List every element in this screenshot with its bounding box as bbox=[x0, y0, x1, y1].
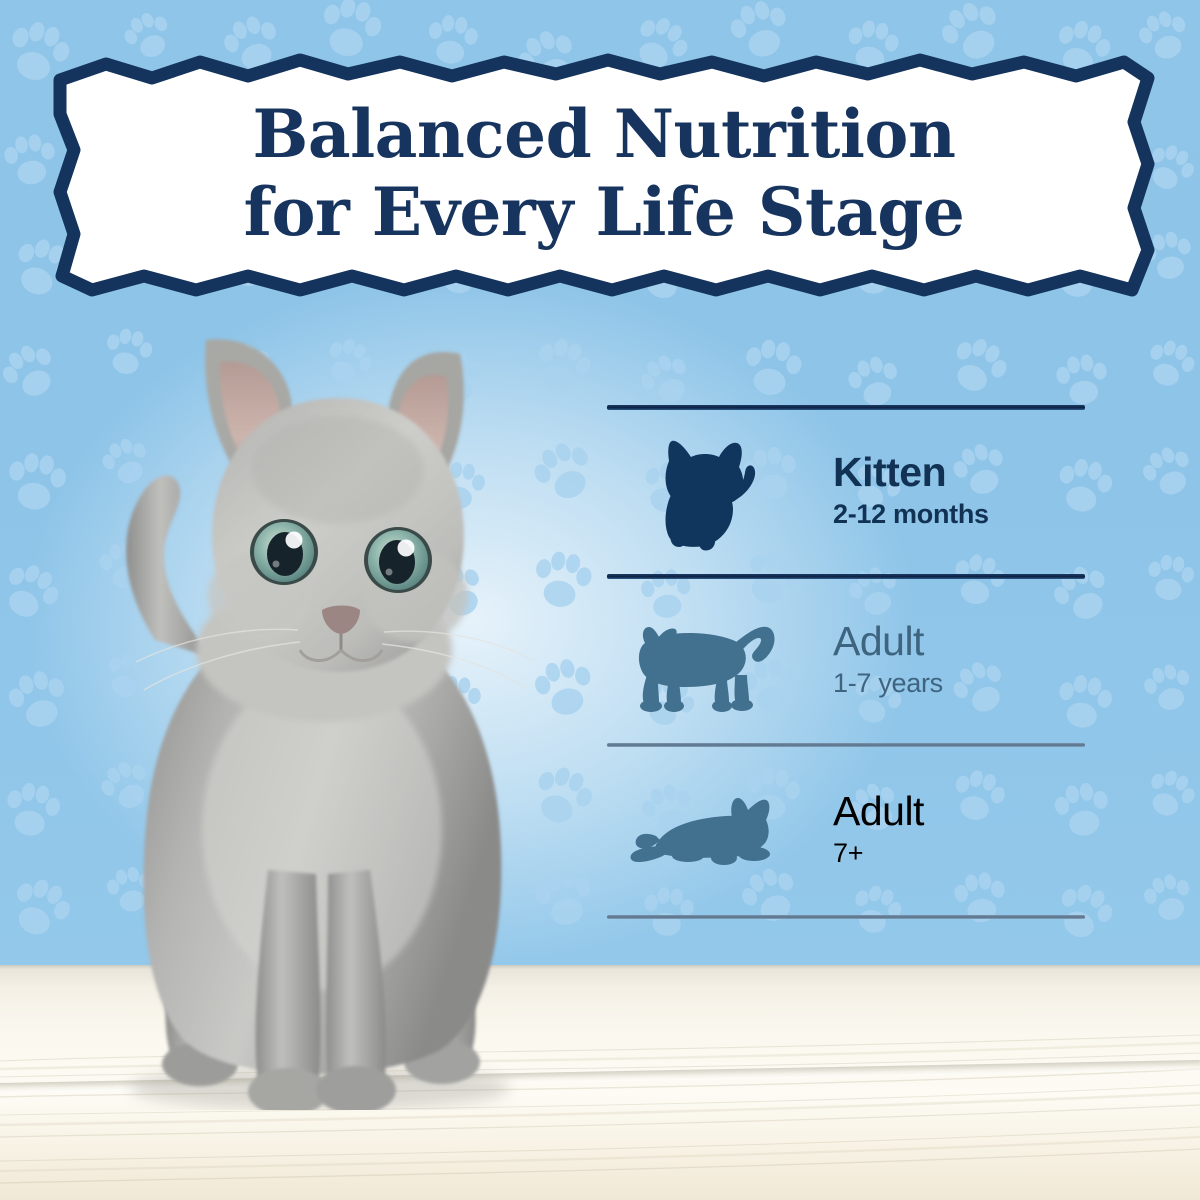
divider-bottom bbox=[607, 915, 1085, 919]
life-stage-subtitle: 1-7 years bbox=[833, 667, 1085, 701]
banner-headline-line-1: Balanced Nutrition bbox=[253, 95, 956, 173]
life-stage-copy-senior: Adult 7+ bbox=[803, 791, 1085, 871]
life-stage-row-adult[interactable]: Adult 1-7 years bbox=[607, 579, 1085, 743]
life-stage-row-senior[interactable]: Adult 7+ bbox=[607, 747, 1085, 915]
standing-cat-silhouette-icon bbox=[607, 609, 803, 713]
life-stage-title: Kitten bbox=[833, 452, 1085, 494]
sitting-kitten-silhouette-icon bbox=[607, 433, 803, 551]
banner-headline: Balanced Nutrition for Every Life Stage bbox=[48, 96, 1160, 252]
life-stage-title: Adult bbox=[833, 621, 1085, 663]
title-banner: Balanced Nutrition for Every Life Stage bbox=[48, 44, 1160, 314]
gray-kitten-photo bbox=[60, 310, 620, 1110]
life-stage-subtitle: 2-12 months bbox=[833, 498, 1085, 532]
life-stage-copy-kitten: Kitten 2-12 months bbox=[803, 452, 1085, 532]
life-stage-subtitle: 7+ bbox=[833, 837, 1085, 871]
life-stage-row-kitten[interactable]: Kitten 2-12 months bbox=[607, 410, 1085, 574]
life-stage-copy-adult: Adult 1-7 years bbox=[803, 621, 1085, 701]
reclining-cat-silhouette-icon bbox=[607, 788, 803, 874]
banner-headline-line-2: for Every Life Stage bbox=[48, 174, 1160, 252]
life-stage-title: Adult bbox=[833, 791, 1085, 833]
poster-canvas: Balanced Nutrition for Every Life Stage bbox=[0, 0, 1200, 1200]
life-stage-list: Kitten 2-12 months bbox=[607, 405, 1085, 919]
